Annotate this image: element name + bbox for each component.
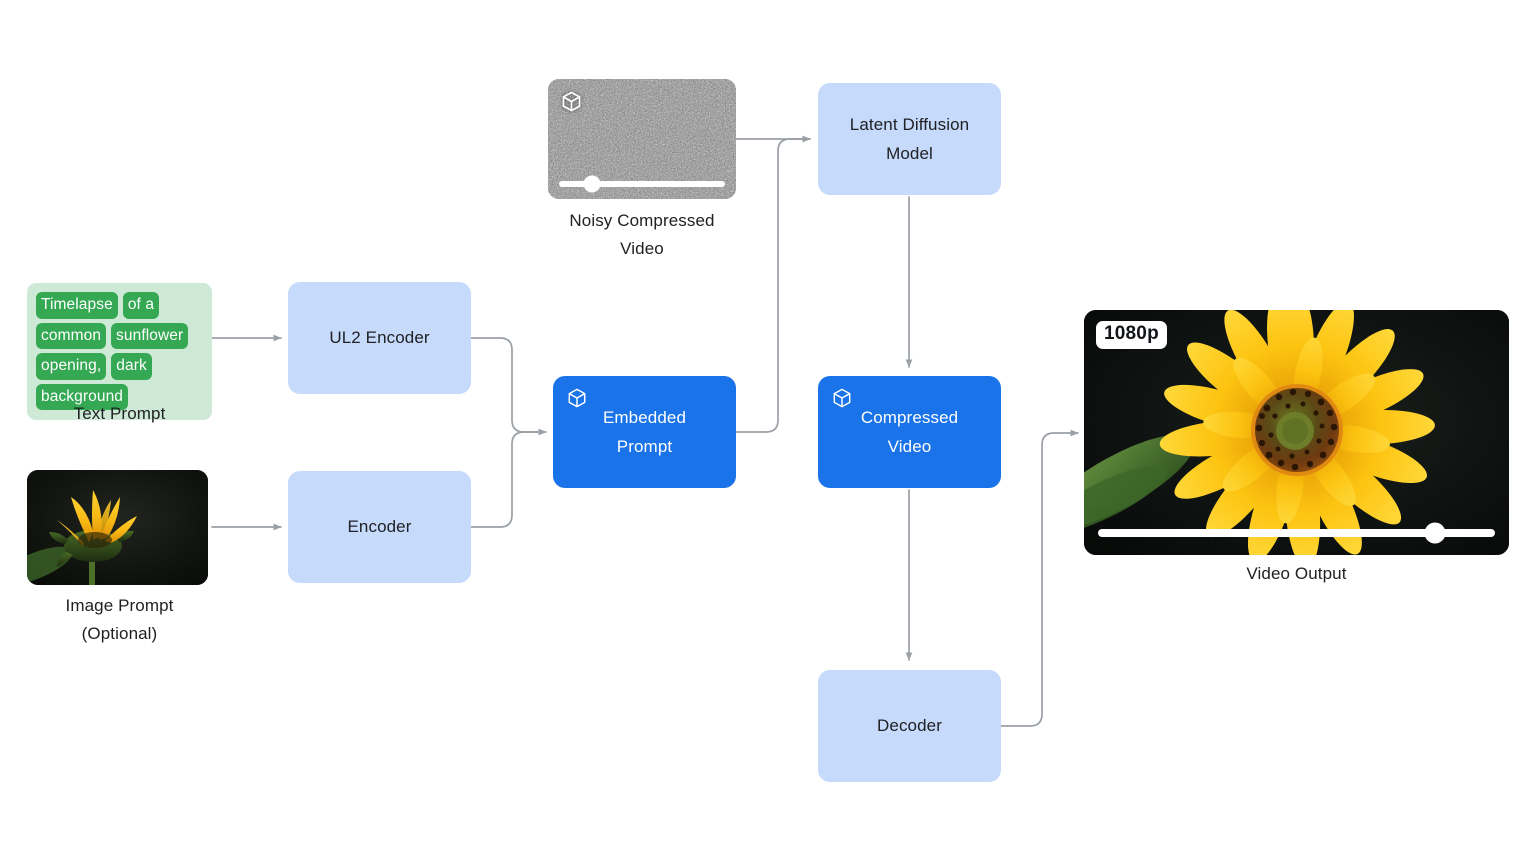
ul2-encoder-label: UL2 Encoder [329,323,429,352]
decoder-node[interactable]: Decoder [818,670,1001,782]
wire-encoder-to-embedded [471,432,540,527]
prompt-token[interactable]: dark [111,353,152,380]
diagram-canvas: Timelapse of a common sunflower opening,… [0,0,1536,864]
resolution-badge: 1080p [1096,321,1167,349]
video-output-caption: Video Output [1084,560,1509,588]
embedded-prompt-label-line2: Prompt [603,432,686,461]
ldm-label-line1: Latent Diffusion [850,110,969,139]
noisy-video-caption-line1: Noisy Compressed [530,207,754,235]
embedded-prompt-label-line1: Embedded [603,403,686,432]
text-prompt-caption: Text Prompt [17,400,222,428]
compressed-video-label-line2: Video [861,432,958,461]
compressed-video-node[interactable]: Compressed Video [818,376,1001,488]
prompt-token[interactable]: opening, [36,353,106,380]
noisy-video-caption-line2: Video [530,235,754,263]
token-row: Timelapse of a [36,292,203,319]
cube-icon [566,387,588,409]
latent-diffusion-model-node[interactable]: Latent Diffusion Model [818,83,1001,195]
image-prompt-caption-line2: (Optional) [17,620,222,648]
decoder-label: Decoder [877,711,942,740]
compressed-video-label-line1: Compressed [861,403,958,432]
prompt-token[interactable]: Timelapse [36,292,118,319]
wire-embedded-to-ldm [736,139,810,432]
encoder-node[interactable]: Encoder [288,471,471,583]
noisy-compressed-video-thumbnail[interactable] [548,79,736,199]
cube-icon [560,90,583,113]
sunflower-bud-image [27,470,208,585]
cube-icon [831,387,853,409]
ldm-label-line2: Model [850,139,969,168]
wire-decoder-to-output [1001,433,1078,726]
video-output-scrubber-handle[interactable] [1425,523,1446,544]
prompt-token[interactable]: sunflower [111,323,188,350]
image-prompt-thumbnail[interactable] [27,470,208,585]
prompt-token[interactable]: common [36,323,106,350]
wire-ul2-to-embedded [471,338,546,432]
embedded-prompt-node[interactable]: Embedded Prompt [553,376,736,488]
token-row: common sunflower [36,323,203,350]
prompt-token[interactable]: of a [123,292,159,319]
video-output-scrubber-track[interactable] [1098,529,1495,537]
token-row: opening, dark [36,353,203,380]
ul2-encoder-node[interactable]: UL2 Encoder [288,282,471,394]
image-prompt-caption-line1: Image Prompt [17,592,222,620]
noisy-video-scrubber-track[interactable] [559,181,725,187]
noisy-video-scrubber-handle[interactable] [584,176,601,193]
encoder-label: Encoder [347,512,411,541]
video-output-player[interactable]: 1080p [1084,310,1509,555]
